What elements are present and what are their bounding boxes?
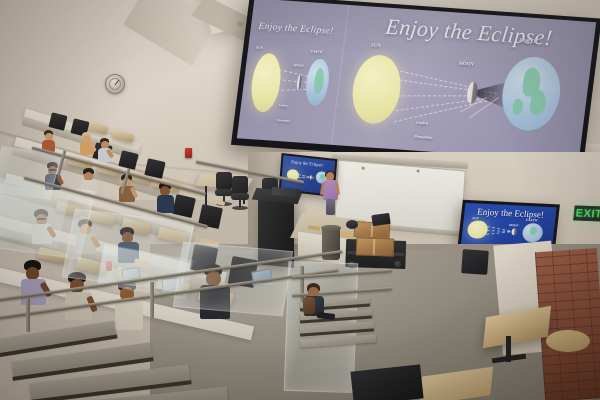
student-on-stairs — [303, 283, 333, 325]
wall-display-sun — [467, 220, 488, 239]
wall-display-moon — [511, 228, 516, 235]
backpack — [303, 297, 315, 314]
screen-panel-main: Enjoy the Eclipse! SUN MOON EARTH — [331, 5, 596, 162]
slide-title-main: Enjoy the Eclipse! — [384, 13, 554, 50]
label-penumbra: Penumbra — [414, 134, 433, 140]
label-umbra: Umbra — [416, 120, 429, 126]
lecture-chair — [144, 158, 165, 179]
stairs — [0, 300, 320, 400]
label-earth: EARTH — [518, 38, 537, 45]
wall-display-label-moon: MOON — [509, 223, 519, 227]
label-sun: SUN — [370, 43, 381, 49]
wall-display-earth — [522, 222, 544, 242]
chair-back — [461, 249, 489, 275]
ceiling-sensor-icon — [238, 22, 242, 26]
label-umbra-left: Umbra — [279, 103, 288, 108]
wall-display-label-earth: EARTH — [526, 218, 538, 223]
wall-clock-icon — [105, 74, 125, 94]
label-moon: MOON — [458, 62, 474, 68]
equipment-case — [346, 220, 358, 229]
label-earth-left: EARTH — [310, 49, 323, 54]
label-sun-left: SUN — [256, 45, 264, 49]
presenter-legs — [326, 199, 335, 215]
foreground-chair — [350, 364, 423, 400]
lecture-chair — [172, 194, 196, 218]
earth-graphic — [498, 55, 564, 132]
sun-graphic — [349, 53, 405, 125]
lecture-hall-photo: Enjoy the Eclipse! SUN MOON EARTH Umbra … — [0, 0, 600, 400]
slide-title-left: Enjoy the Eclipse! — [258, 21, 334, 36]
presenter — [322, 172, 340, 214]
label-moon-left: MOON — [293, 63, 304, 68]
round-table-top — [546, 330, 590, 352]
exit-sign: EXIT — [573, 206, 600, 222]
wall-display-label-sun: SUN — [472, 216, 479, 220]
cardboard-box — [356, 237, 395, 256]
earth-graphic-left — [304, 59, 331, 107]
exit-sign-label: EXIT — [575, 207, 600, 220]
